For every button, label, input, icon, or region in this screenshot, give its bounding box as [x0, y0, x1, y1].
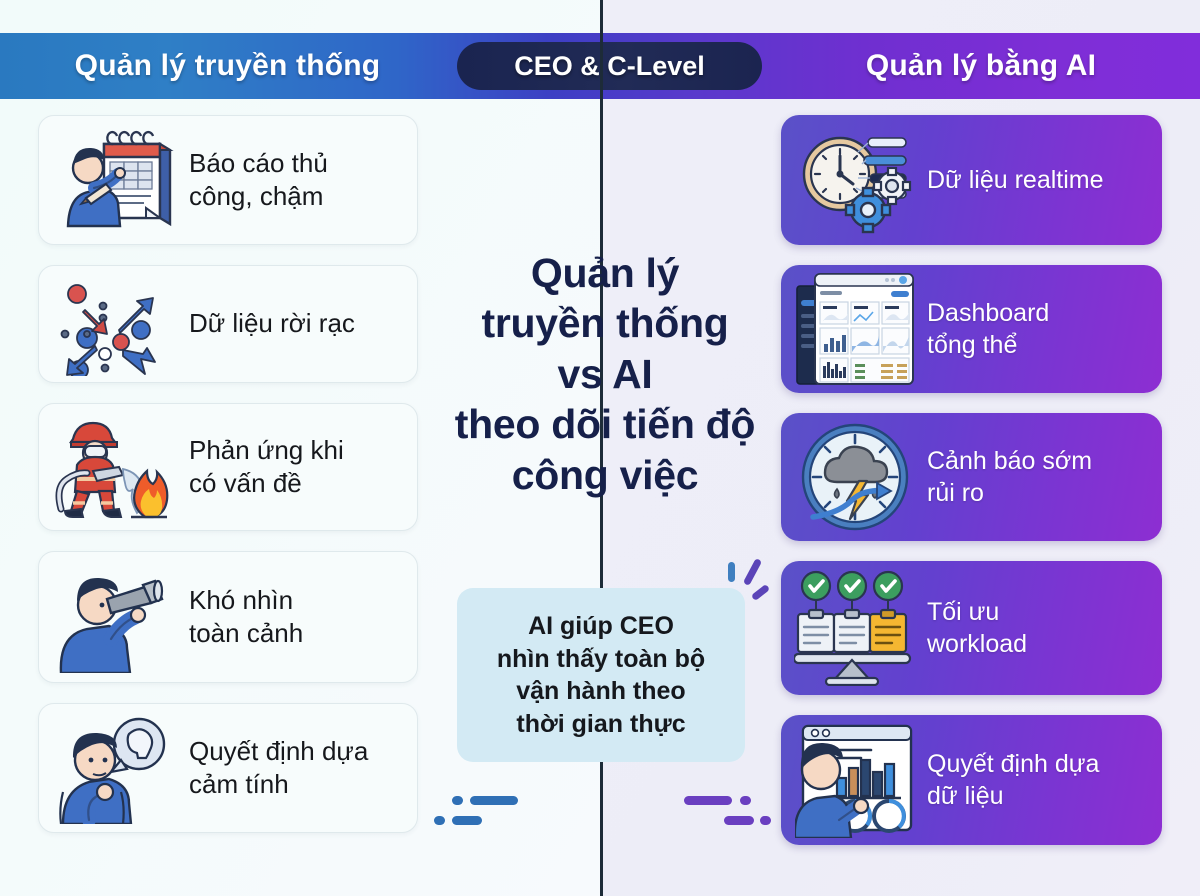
callout-box: AI giúp CEO nhìn thấy toàn bộ vận hành t…	[457, 588, 745, 762]
infographic-canvas: Quản lý truyền thống Quản lý bằng AI CEO…	[0, 0, 1200, 896]
person-telescope-icon	[53, 552, 181, 682]
list-item-label: Quyết định dựa dữ liệu	[917, 748, 1150, 813]
person-analytics-icon	[793, 715, 917, 845]
header-left-title: Quản lý truyền thống	[0, 33, 455, 99]
ai-management-list: Dữ liệu realtime	[781, 115, 1162, 865]
balance-checklist-icon	[793, 561, 917, 695]
list-item[interactable]: Báo cáo thủ công, chậm	[38, 115, 418, 245]
list-item[interactable]: Tối ưu workload	[781, 561, 1162, 695]
list-item[interactable]: Quyết định dựa dữ liệu	[781, 715, 1162, 845]
traditional-management-list: Báo cáo thủ công, chậm	[38, 115, 418, 853]
header-right-title: Quản lý bằng AI	[762, 33, 1200, 99]
list-item[interactable]: Dashboard tổng thể	[781, 265, 1162, 393]
page-title: Quản lý truyền thống vs AI theo dõi tiến…	[420, 248, 790, 500]
list-item[interactable]: Khó nhìn toàn cảnh	[38, 551, 418, 683]
list-item-label: Dữ liệu realtime	[917, 164, 1150, 197]
list-item[interactable]: Cảnh báo sớm rủi ro	[781, 413, 1162, 541]
storm-gauge-icon	[793, 413, 917, 541]
list-item-label: Dashboard tổng thể	[917, 297, 1150, 362]
list-item-label: Dữ liệu rời rạc	[181, 307, 403, 340]
firefighter-fire-icon	[53, 404, 181, 530]
list-item[interactable]: Dữ liệu rời rạc	[38, 265, 418, 383]
list-item-label: Cảnh báo sớm rủi ro	[917, 445, 1150, 510]
list-item[interactable]: Dữ liệu realtime	[781, 115, 1162, 245]
list-item-label: Tối ưu workload	[917, 596, 1150, 661]
clock-gears-icon	[793, 115, 917, 245]
center-pill-badge: CEO & C-Level	[457, 42, 762, 90]
list-item-label: Phản ứng khi có vấn đề	[181, 434, 403, 501]
list-item[interactable]: Phản ứng khi có vấn đề	[38, 403, 418, 531]
list-item-label: Báo cáo thủ công, chậm	[181, 147, 403, 214]
dashboard-window-icon	[793, 265, 917, 393]
person-thinking-icon	[53, 704, 181, 832]
list-item-label: Khó nhìn toàn cảnh	[181, 584, 403, 651]
scattered-dots-arrows-icon	[53, 266, 181, 382]
list-item[interactable]: Quyết định dựa cảm tính	[38, 703, 418, 833]
list-item-label: Quyết định dựa cảm tính	[181, 735, 403, 802]
person-calendar-icon	[53, 116, 181, 244]
